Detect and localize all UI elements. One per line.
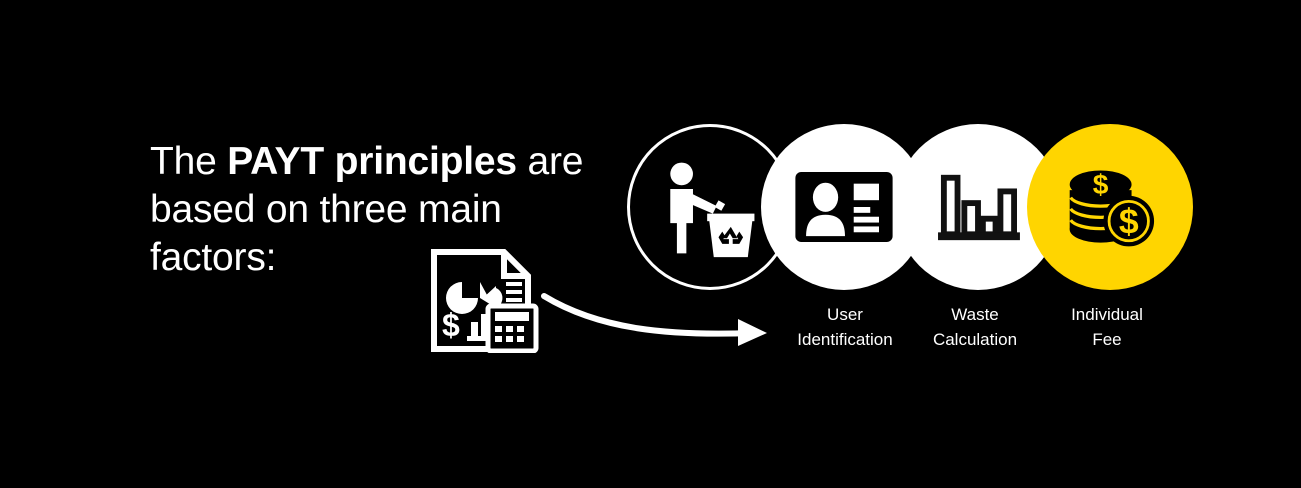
slide-canvas: The PAYT principles are based on three m… xyxy=(0,0,1301,488)
caption-individual-fee-line2: Fee xyxy=(1022,327,1192,352)
financial-report-document-with-calculator-icon: $ xyxy=(430,248,540,353)
heading-line1-bold: PAYT principles xyxy=(227,140,517,183)
caption-individual-fee-line1: Individual xyxy=(1022,302,1192,327)
curved-right-arrow xyxy=(540,288,780,346)
heading-line3: factors: xyxy=(150,236,276,279)
svg-text:$: $ xyxy=(442,307,460,343)
heading-line2: based on three main xyxy=(150,188,502,231)
stack-of-coins-dollar-icon: $ $ xyxy=(1063,162,1157,252)
bar-chart-icon xyxy=(934,168,1022,246)
heading-line1-suffix: are xyxy=(517,140,583,183)
svg-text:$: $ xyxy=(1119,201,1139,241)
heading-line1-prefix: The xyxy=(150,140,227,183)
circle-individual-fee[interactable]: $ $ xyxy=(1027,124,1193,290)
caption-individual-fee: Individual Fee xyxy=(1022,302,1192,352)
svg-text:$: $ xyxy=(1093,169,1109,200)
person-throwing-waste-in-recycling-bin-icon xyxy=(658,155,762,259)
payt-factors-diagram: $ $ xyxy=(627,124,1193,290)
id-card-icon xyxy=(795,172,893,242)
